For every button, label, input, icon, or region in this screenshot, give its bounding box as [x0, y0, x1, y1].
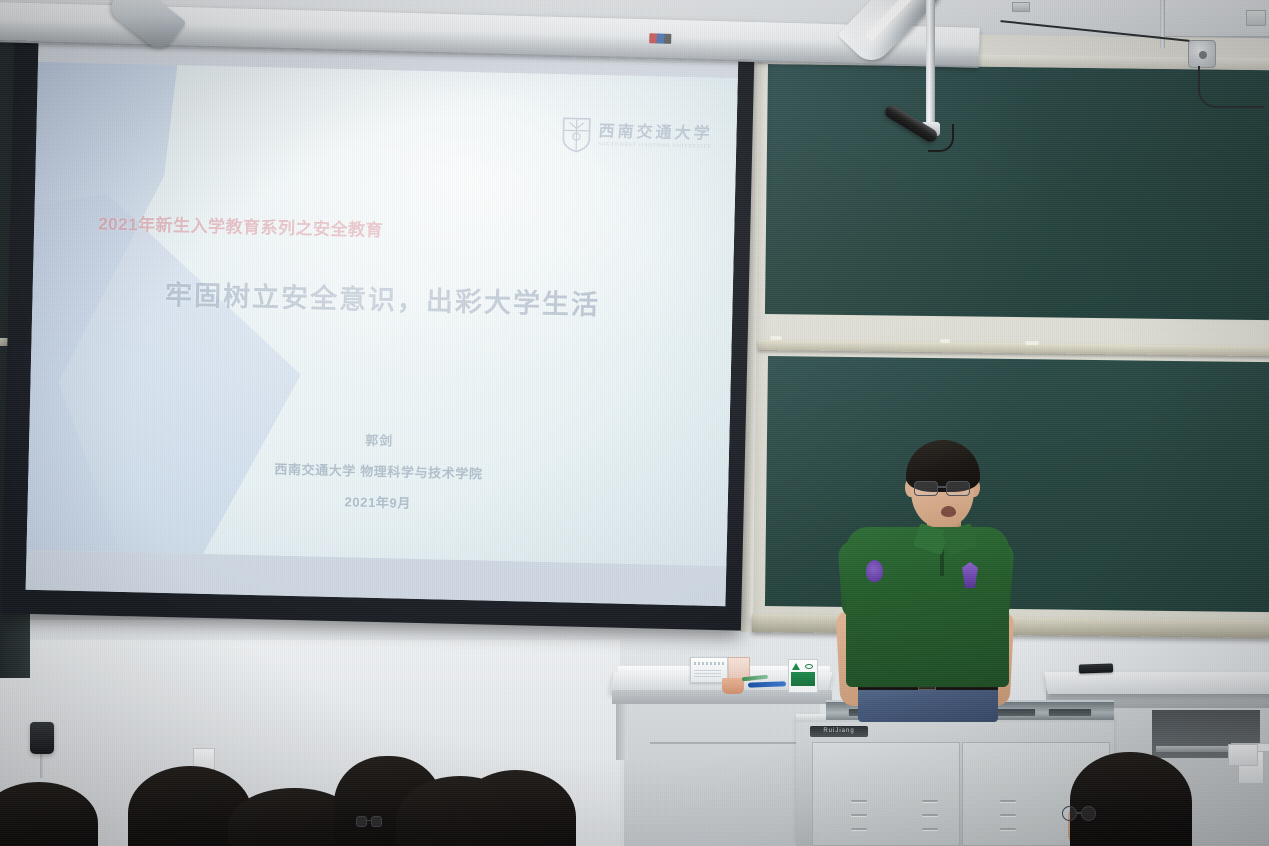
presenter-polo-shirt: [846, 527, 1009, 687]
shield-crest-icon: [561, 116, 592, 153]
mobile-phone-icon[interactable]: [1079, 663, 1113, 673]
side-table-leg: [616, 700, 628, 760]
vent-slot-icon: [851, 828, 867, 830]
projection-screen-surface: 西南交通大学 SOUTHWEST JIAOTONG UNIVERSITY 202…: [26, 28, 739, 606]
vent-slot-icon: [1000, 800, 1016, 802]
ceiling-mount-plate: [1012, 2, 1030, 12]
vent-slot-icon: [1000, 814, 1016, 816]
vent-slot-icon: [922, 828, 938, 830]
podium-brand-badge: RuiJiang: [810, 726, 868, 737]
vent-slot-icon: [922, 814, 938, 816]
right-table-top: [1044, 672, 1269, 694]
microphone-pole: [926, 0, 935, 128]
slide-byline: 郭剑 西南交通大学 物理科学与技术学院 2021年9月: [28, 422, 730, 519]
lens-right: [371, 816, 382, 827]
green-label-box: [788, 659, 818, 693]
speaker-stem: [40, 752, 44, 778]
vent-slot-icon: [851, 814, 867, 816]
wall-junction-box: [1246, 10, 1266, 26]
box-print-block: [694, 669, 721, 677]
eyeglasses-icon: [1062, 806, 1096, 822]
box-logo-icon: [792, 663, 800, 670]
projection-screen-frame: 西南交通大学 SOUTHWEST JIAOTONG UNIVERSITY 202…: [1, 13, 755, 630]
side-cabinet-seam: [650, 742, 800, 744]
lens-left: [356, 816, 367, 827]
box-print-line: [694, 662, 724, 665]
student-head: [1070, 752, 1192, 846]
lecture-hall-photo: 西南交通大学 SOUTHWEST JIAOTONG UNIVERSITY 202…: [0, 0, 1269, 846]
wall-outlet-plate[interactable]: [1228, 744, 1258, 766]
ceiling-pipe: [1160, 0, 1165, 48]
ceiling-cable: [1198, 66, 1264, 108]
logo-name-cn: 西南交通大学: [598, 123, 713, 142]
lens-right: [946, 481, 970, 496]
chalk-piece: [940, 339, 950, 343]
glasses-bridge: [938, 486, 946, 488]
logo-name-en: SOUTHWEST JIAOTONG UNIVERSITY: [598, 142, 712, 150]
vent-slot-icon: [851, 800, 867, 802]
lens-right: [1081, 806, 1096, 821]
side-table-cabinet: [624, 700, 820, 846]
wall-speaker-icon: [30, 722, 54, 754]
presenter-affiliation: 西南交通大学 物理科学与技术学院: [28, 453, 728, 488]
paper-cup: [722, 678, 744, 694]
sleeve-emblem-icon: [866, 560, 883, 582]
eyeglasses-icon: [356, 816, 382, 828]
presentation-slide: 西南交通大学 SOUTHWEST JIAOTONG UNIVERSITY 202…: [27, 62, 738, 566]
blackboard-panel-upper: [765, 64, 1269, 320]
university-logo: 西南交通大学 SOUTHWEST JIAOTONG UNIVERSITY: [561, 116, 713, 156]
lens-left: [1062, 806, 1077, 821]
chalk-piece: [1025, 341, 1039, 345]
podium-port-icon[interactable]: [992, 708, 1036, 717]
vent-slot-icon: [922, 800, 938, 802]
lens-left: [914, 481, 938, 496]
presenter-mouth: [941, 506, 956, 517]
box-green-band: [791, 672, 815, 686]
box-seal-icon: [805, 664, 813, 669]
podium-port-icon[interactable]: [1048, 708, 1092, 717]
vent-slot-icon: [1000, 828, 1016, 830]
podium-door-left[interactable]: [812, 742, 960, 846]
eyeglasses-icon: [914, 481, 976, 497]
housing-brand-badge: [649, 33, 671, 44]
ceiling-sensor-icon: [1188, 40, 1216, 68]
chalk-piece: [770, 336, 782, 340]
